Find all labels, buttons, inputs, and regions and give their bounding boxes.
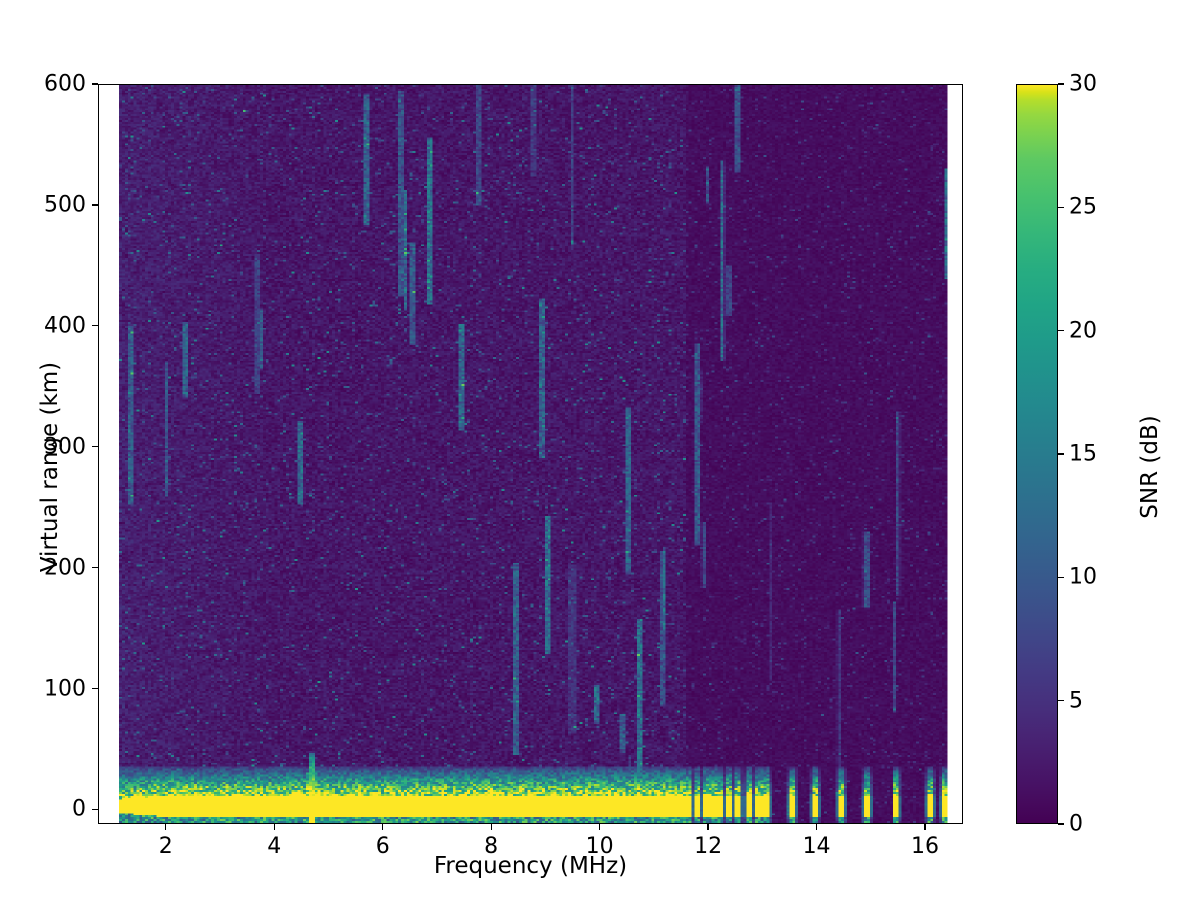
colorbar-tick-label: 0: [1069, 812, 1083, 837]
colorbar-tick-label: 30: [1069, 72, 1097, 97]
colorbar-tick-label: 10: [1069, 565, 1097, 590]
x-tick-mark: [491, 824, 492, 830]
ionogram-heatmap: [99, 85, 962, 823]
colorbar-tick-label: 5: [1069, 688, 1083, 713]
x-axis-label: Frequency (MHz): [98, 853, 963, 879]
heatmap-canvas: [99, 85, 962, 823]
plot-axes: [98, 84, 963, 824]
y-tick-label: 500: [0, 192, 86, 217]
y-tick-mark: [92, 688, 98, 689]
x-tick-mark: [274, 824, 275, 830]
x-tick-mark: [382, 824, 383, 830]
ionogram-figure: IRF Uppsala SDR Ionosonde UP158 2026-03-…: [0, 0, 1200, 900]
colorbar-tick-mark: [1058, 700, 1064, 701]
colorbar-tick-label: 25: [1069, 195, 1097, 220]
y-tick-mark: [92, 325, 98, 326]
y-tick-label: 100: [0, 676, 86, 701]
x-tick-mark: [816, 824, 817, 830]
colorbar: [1016, 84, 1058, 824]
y-tick-mark: [92, 204, 98, 205]
colorbar-tick-mark: [1058, 207, 1064, 208]
colorbar-tick-mark: [1058, 823, 1064, 824]
x-tick-mark: [707, 824, 708, 830]
x-tick-mark: [924, 824, 925, 830]
y-axis-label: Virtual range (km): [37, 317, 63, 617]
y-tick-label: 600: [0, 72, 86, 97]
x-tick-mark: [165, 824, 166, 830]
colorbar-label: SNR (dB): [1137, 317, 1163, 617]
colorbar-tick-mark: [1058, 453, 1064, 454]
y-tick-mark: [92, 567, 98, 568]
y-tick-label: 0: [0, 797, 86, 822]
y-tick-mark: [92, 446, 98, 447]
y-tick-mark: [92, 809, 98, 810]
x-tick-mark: [599, 824, 600, 830]
colorbar-tick-label: 20: [1069, 318, 1097, 343]
colorbar-tick-mark: [1058, 83, 1064, 84]
colorbar-tick-mark: [1058, 577, 1064, 578]
y-tick-mark: [92, 83, 98, 84]
colorbar-tick-mark: [1058, 330, 1064, 331]
colorbar-tick-label: 15: [1069, 442, 1097, 467]
